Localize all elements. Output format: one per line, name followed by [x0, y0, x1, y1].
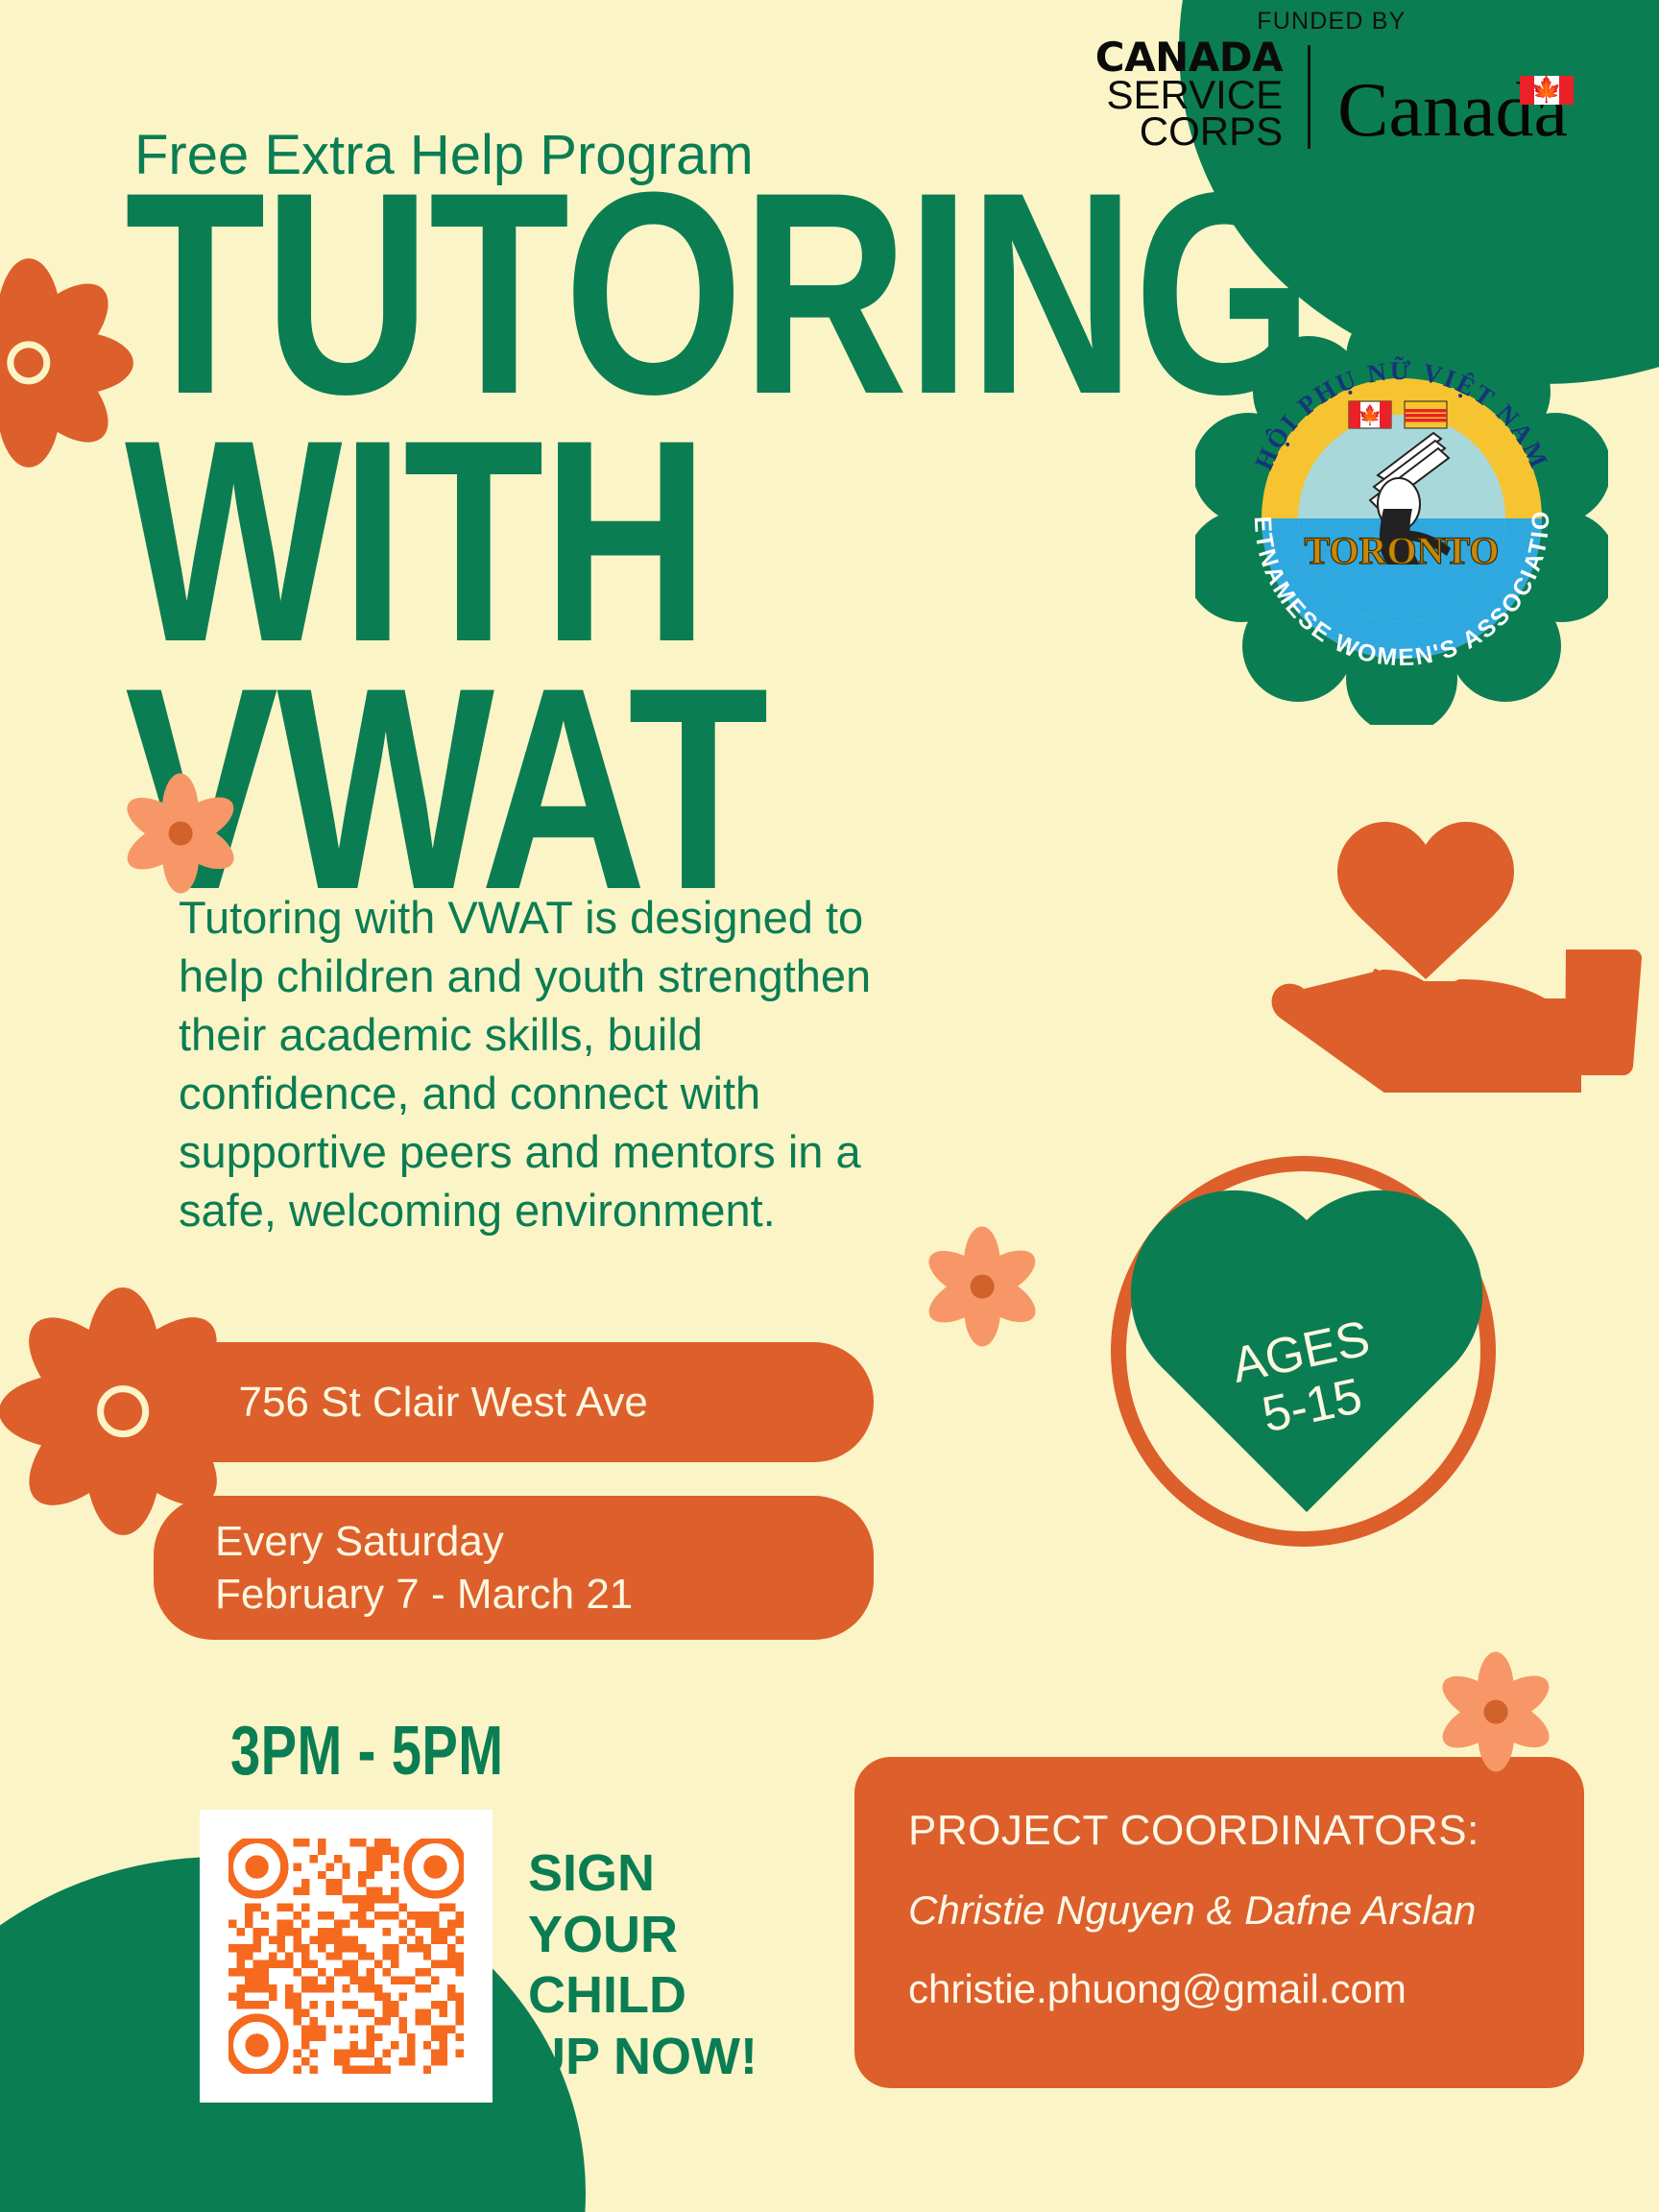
canada-flag-icon: 🍁 [1520, 76, 1574, 105]
signup-line-4: UP NOW! [528, 2027, 757, 2088]
coordinators-names: Christie Nguyen & Dafne Arslan [908, 1887, 1530, 1934]
flower-icon [0, 1288, 246, 1534]
coordinators-email[interactable]: christie.phuong@gmail.com [908, 1966, 1530, 2012]
coordinators-title: PROJECT COORDINATORS: [908, 1807, 1530, 1855]
funded-by-label: FUNDED BY [1257, 8, 1406, 36]
coordinators-card: PROJECT COORDINATORS: Christie Nguyen & … [854, 1757, 1584, 2088]
svg-text:🍁: 🍁 [1358, 403, 1382, 426]
flower-icon [923, 1227, 1042, 1346]
funder-logo-row: CANADA SERVICE CORPS Canada 🍁 [1095, 39, 1568, 151]
canada-wordmark: Canada 🍁 [1310, 72, 1568, 151]
canada-service-corps-wordmark: CANADA SERVICE CORPS [1095, 39, 1308, 151]
page-title: TUTORING WITH VWAT [125, 169, 1352, 912]
qr-code[interactable] [200, 1810, 493, 2103]
csc-line-3: CORPS [1095, 113, 1283, 151]
funder-logo: FUNDED BY CANADA SERVICE CORPS Canada 🍁 [1095, 8, 1568, 151]
ages-badge: AGES 5-15 [1088, 1135, 1525, 1572]
csc-line-1: CANADA [1095, 39, 1283, 77]
canada-flag-icon: 🍁 [1349, 401, 1391, 428]
flower-icon [0, 259, 132, 467]
poster-canvas: FUNDED BY CANADA SERVICE CORPS Canada 🍁 … [0, 0, 1659, 2212]
vwat-center-text: TORONTO [1304, 529, 1499, 572]
flower-icon [121, 774, 240, 893]
title-line-2: WITH VWAT [125, 417, 1352, 912]
time-text: 3PM - 5PM [230, 1712, 503, 1791]
schedule-line-2: February 7 - March 21 [215, 1568, 812, 1621]
signup-callout: SIGN YOUR CHILD UP NOW! [528, 1843, 757, 2088]
south-vietnam-flag-icon [1405, 401, 1447, 428]
address-text: 1756 St Clair West Ave [215, 1379, 812, 1427]
signup-line-2: YOUR [528, 1905, 757, 1966]
vwat-logo-badge: 🍁 TORONTO HỘI PHỤ NỮ VIỆT NAM [1195, 312, 1608, 725]
schedule-pill: Every Saturday February 7 - March 21 [154, 1496, 874, 1640]
address-pill: 1756 St Clair West Ave [154, 1342, 874, 1462]
flower-icon [1436, 1652, 1555, 1771]
description-paragraph: Tutoring with VWAT is designed to help c… [179, 888, 908, 1240]
signup-line-1: SIGN [528, 1843, 757, 1905]
hand-holding-heart-icon [1267, 805, 1651, 1093]
signup-line-3: CHILD [528, 1965, 757, 2027]
schedule-line-1: Every Saturday [215, 1515, 812, 1568]
